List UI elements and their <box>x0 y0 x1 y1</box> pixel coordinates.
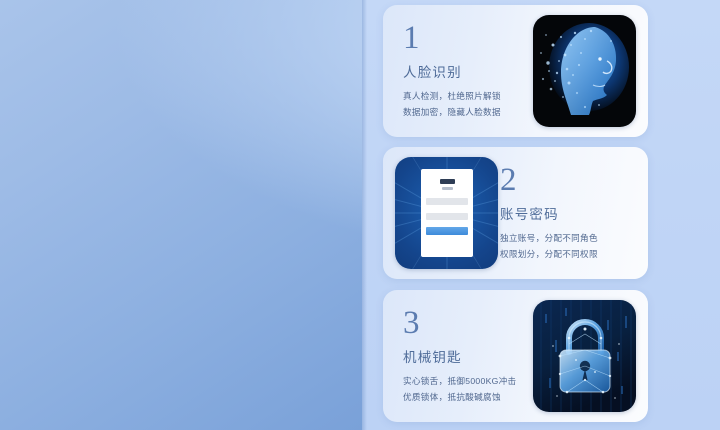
card-description: 独立账号，分配不同角色 权限划分，分配不同权限 <box>500 231 632 263</box>
card-text-column: 1 人脸识别 真人检测，杜绝照片解锁 数据加密，隐藏人脸数据 <box>383 22 533 121</box>
feature-card-face-recognition[interactable]: 1 人脸识别 真人检测，杜绝照片解锁 数据加密，隐藏人脸数据 <box>383 5 648 137</box>
feature-card-list: 1 人脸识别 真人检测，杜绝照片解锁 数据加密，隐藏人脸数据 <box>383 5 648 425</box>
card-text-column: 2 账号密码 独立账号，分配不同角色 权限划分，分配不同权限 <box>498 164 648 263</box>
username-field-placeholder <box>426 198 468 205</box>
card-content: 2 账号密码 独立账号，分配不同角色 权限划分，分配不同权限 <box>383 147 648 279</box>
screenshot-stage: 1 人脸识别 真人检测，杜绝照片解锁 数据加密，隐藏人脸数据 <box>0 0 720 430</box>
card-title: 人脸识别 <box>403 61 533 81</box>
card-title: 机械钥匙 <box>403 346 533 366</box>
card-description: 实心锁舌，抵御5000KG冲击 优质锁体，抵抗酸碱腐蚀 <box>403 374 533 406</box>
card-number: 3 <box>403 307 533 340</box>
card-text-column: 3 机械钥匙 实心锁舌，抵御5000KG冲击 优质锁体，抵抗酸碱腐蚀 <box>383 307 533 406</box>
card-content: 3 机械钥匙 实心锁舌，抵御5000KG冲击 优质锁体，抵抗酸碱腐蚀 <box>383 290 648 422</box>
panel-edge-shadow <box>362 0 367 430</box>
login-title-placeholder <box>440 179 455 184</box>
login-form-preview <box>421 169 473 257</box>
password-field-placeholder <box>426 213 468 220</box>
card-description: 真人检测，杜绝照片解锁 数据加密，隐藏人脸数据 <box>403 89 533 121</box>
login-subtitle-placeholder <box>442 187 453 190</box>
card-title: 账号密码 <box>500 203 632 223</box>
card-number: 1 <box>403 22 533 55</box>
card-number: 2 <box>500 164 632 197</box>
card-content: 1 人脸识别 真人检测，杜绝照片解锁 数据加密，隐藏人脸数据 <box>383 5 648 137</box>
login-submit-button-placeholder <box>426 227 468 235</box>
feature-card-mechanical-key[interactable]: 3 机械钥匙 实心锁舌，抵御5000KG冲击 优质锁体，抵抗酸碱腐蚀 <box>383 290 648 422</box>
padlock-image <box>533 300 636 412</box>
padlock-icon <box>533 300 636 412</box>
face-profile-icon <box>533 15 636 127</box>
face-recognition-image <box>533 15 636 127</box>
feature-card-account-password[interactable]: 2 账号密码 独立账号，分配不同角色 权限划分，分配不同权限 <box>383 147 648 279</box>
login-screen-image <box>395 157 498 269</box>
